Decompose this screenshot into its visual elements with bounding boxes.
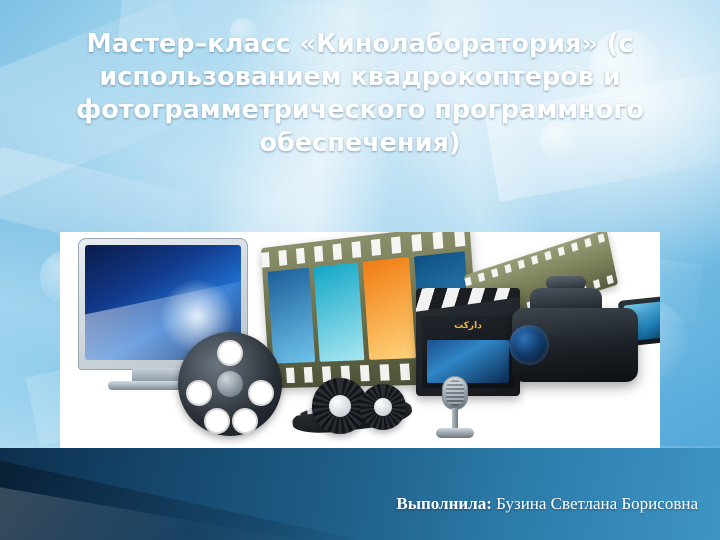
film-reel-hole	[248, 380, 274, 406]
author-name: Бузина Светлана Борисовна	[492, 494, 698, 513]
author-label: Выполнила:	[396, 494, 492, 513]
media-equipment-image: دارکت	[60, 232, 660, 457]
camera-lens-glass	[509, 325, 549, 365]
clapperboard-stripes	[416, 288, 520, 312]
filmstrip-frame	[362, 257, 416, 360]
camera-lens-icon	[496, 312, 562, 378]
filmstrip-frame	[313, 262, 364, 361]
film-reel-hole	[232, 408, 258, 434]
film-reel-hole	[186, 380, 212, 406]
author-line: Выполнила: Бузина Светлана Борисовна	[396, 494, 698, 514]
film-reel-hub	[217, 371, 243, 397]
film-reel-icon	[178, 332, 282, 436]
filmstrip-perforation	[464, 232, 608, 286]
film-roll-icon	[360, 384, 406, 430]
film-reel-hole	[217, 340, 243, 366]
microphone-icon	[442, 376, 468, 410]
filmstrip-frame	[268, 268, 315, 364]
film-roll-core	[329, 395, 351, 417]
footer-divider	[0, 446, 720, 448]
microphone-base	[436, 428, 474, 438]
slide-title: Мастер–класс «Кинолаборатория» (с исполь…	[52, 28, 668, 161]
film-reel-hole	[204, 408, 230, 434]
presentation-slide: Мастер–класс «Кинолаборатория» (с исполь…	[0, 0, 720, 540]
image-canvas: دارکت	[60, 232, 660, 457]
film-roll-core	[374, 398, 392, 416]
microphone-stem	[452, 408, 458, 430]
